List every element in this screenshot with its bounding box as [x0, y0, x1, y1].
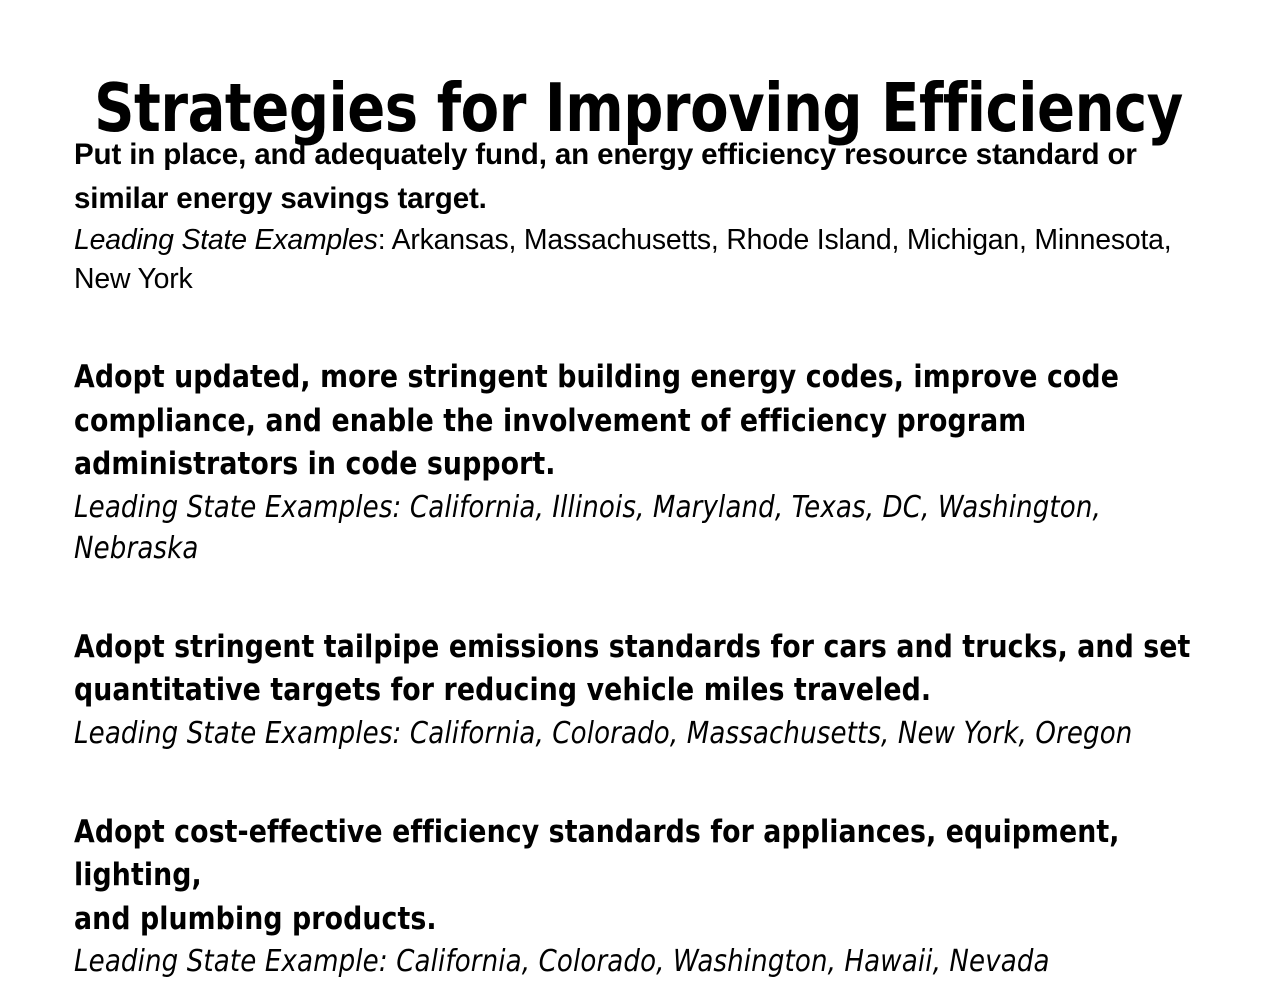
strategy-3-examples-label: Leading State Examples [74, 716, 393, 751]
strategy-4-examples-list: California, Colorado, Washington, Hawaii… [396, 944, 1049, 979]
strategy-1-heading-line-2: similar energy savings target. [74, 177, 1222, 221]
strategy-1-examples-list-line-2: New York [74, 260, 1216, 299]
strategy-1-examples-label: Leading State Examples [74, 224, 378, 256]
strategy-3-heading-line-1: Adopt stringent tailpipe emissions stand… [74, 626, 1192, 670]
strategy-item-4: Adopt cost-effective efficiency standard… [74, 811, 1239, 982]
strategy-1-heading-line-1: Put in place, and adequately fund, an en… [74, 133, 1222, 177]
strategy-4-heading: Adopt cost-effective efficiency standard… [74, 811, 1192, 942]
strategy-3-examples: Leading State Examples: California, Colo… [74, 713, 1198, 754]
strategy-2-heading-line-3: administrators in code support. [74, 443, 1192, 487]
strategy-list: Put in place, and adequately fund, an en… [74, 133, 1239, 982]
slide-canvas: Strategies for Improving Efficiency Put … [0, 0, 1277, 864]
strategy-2-heading-line-2: compliance, and enable the involvement o… [74, 400, 1192, 444]
strategy-2-examples-separator: : [393, 490, 410, 525]
strategy-1-examples: Leading State Examples: Arkansas, Massac… [74, 221, 1216, 299]
strategy-3-heading-line-2: quantitative targets for reducing vehicl… [74, 669, 1192, 713]
strategy-item-2: Adopt updated, more stringent building e… [74, 356, 1239, 569]
strategy-4-examples: Leading State Example: California, Color… [74, 941, 1198, 982]
strategy-3-heading: Adopt stringent tailpipe emissions stand… [74, 626, 1192, 713]
strategy-3-examples-list: California, Colorado, Massachusetts, New… [410, 716, 1133, 751]
strategy-2-examples-label: Leading State Examples [74, 490, 393, 525]
strategy-3-examples-separator: : [393, 716, 410, 751]
strategy-4-heading-line-1: Adopt cost-effective efficiency standard… [74, 811, 1192, 898]
strategy-2-examples: Leading State Examples: California, Illi… [74, 487, 1198, 569]
strategy-2-heading: Adopt updated, more stringent building e… [74, 356, 1192, 487]
strategy-item-1: Put in place, and adequately fund, an en… [74, 133, 1239, 299]
strategy-1-heading: Put in place, and adequately fund, an en… [74, 133, 1222, 221]
strategy-4-examples-label: Leading State Example [74, 944, 379, 979]
strategy-4-examples-separator: : [379, 944, 396, 979]
strategy-item-3: Adopt stringent tailpipe emissions stand… [74, 626, 1239, 754]
strategy-1-examples-separator: : [378, 224, 392, 256]
strategy-4-heading-line-2: and plumbing products. [74, 898, 1192, 942]
strategy-1-examples-list-line-1: Arkansas, Massachusetts, Rhode Island, M… [392, 224, 1172, 256]
strategy-2-heading-line-1: Adopt updated, more stringent building e… [74, 356, 1192, 400]
